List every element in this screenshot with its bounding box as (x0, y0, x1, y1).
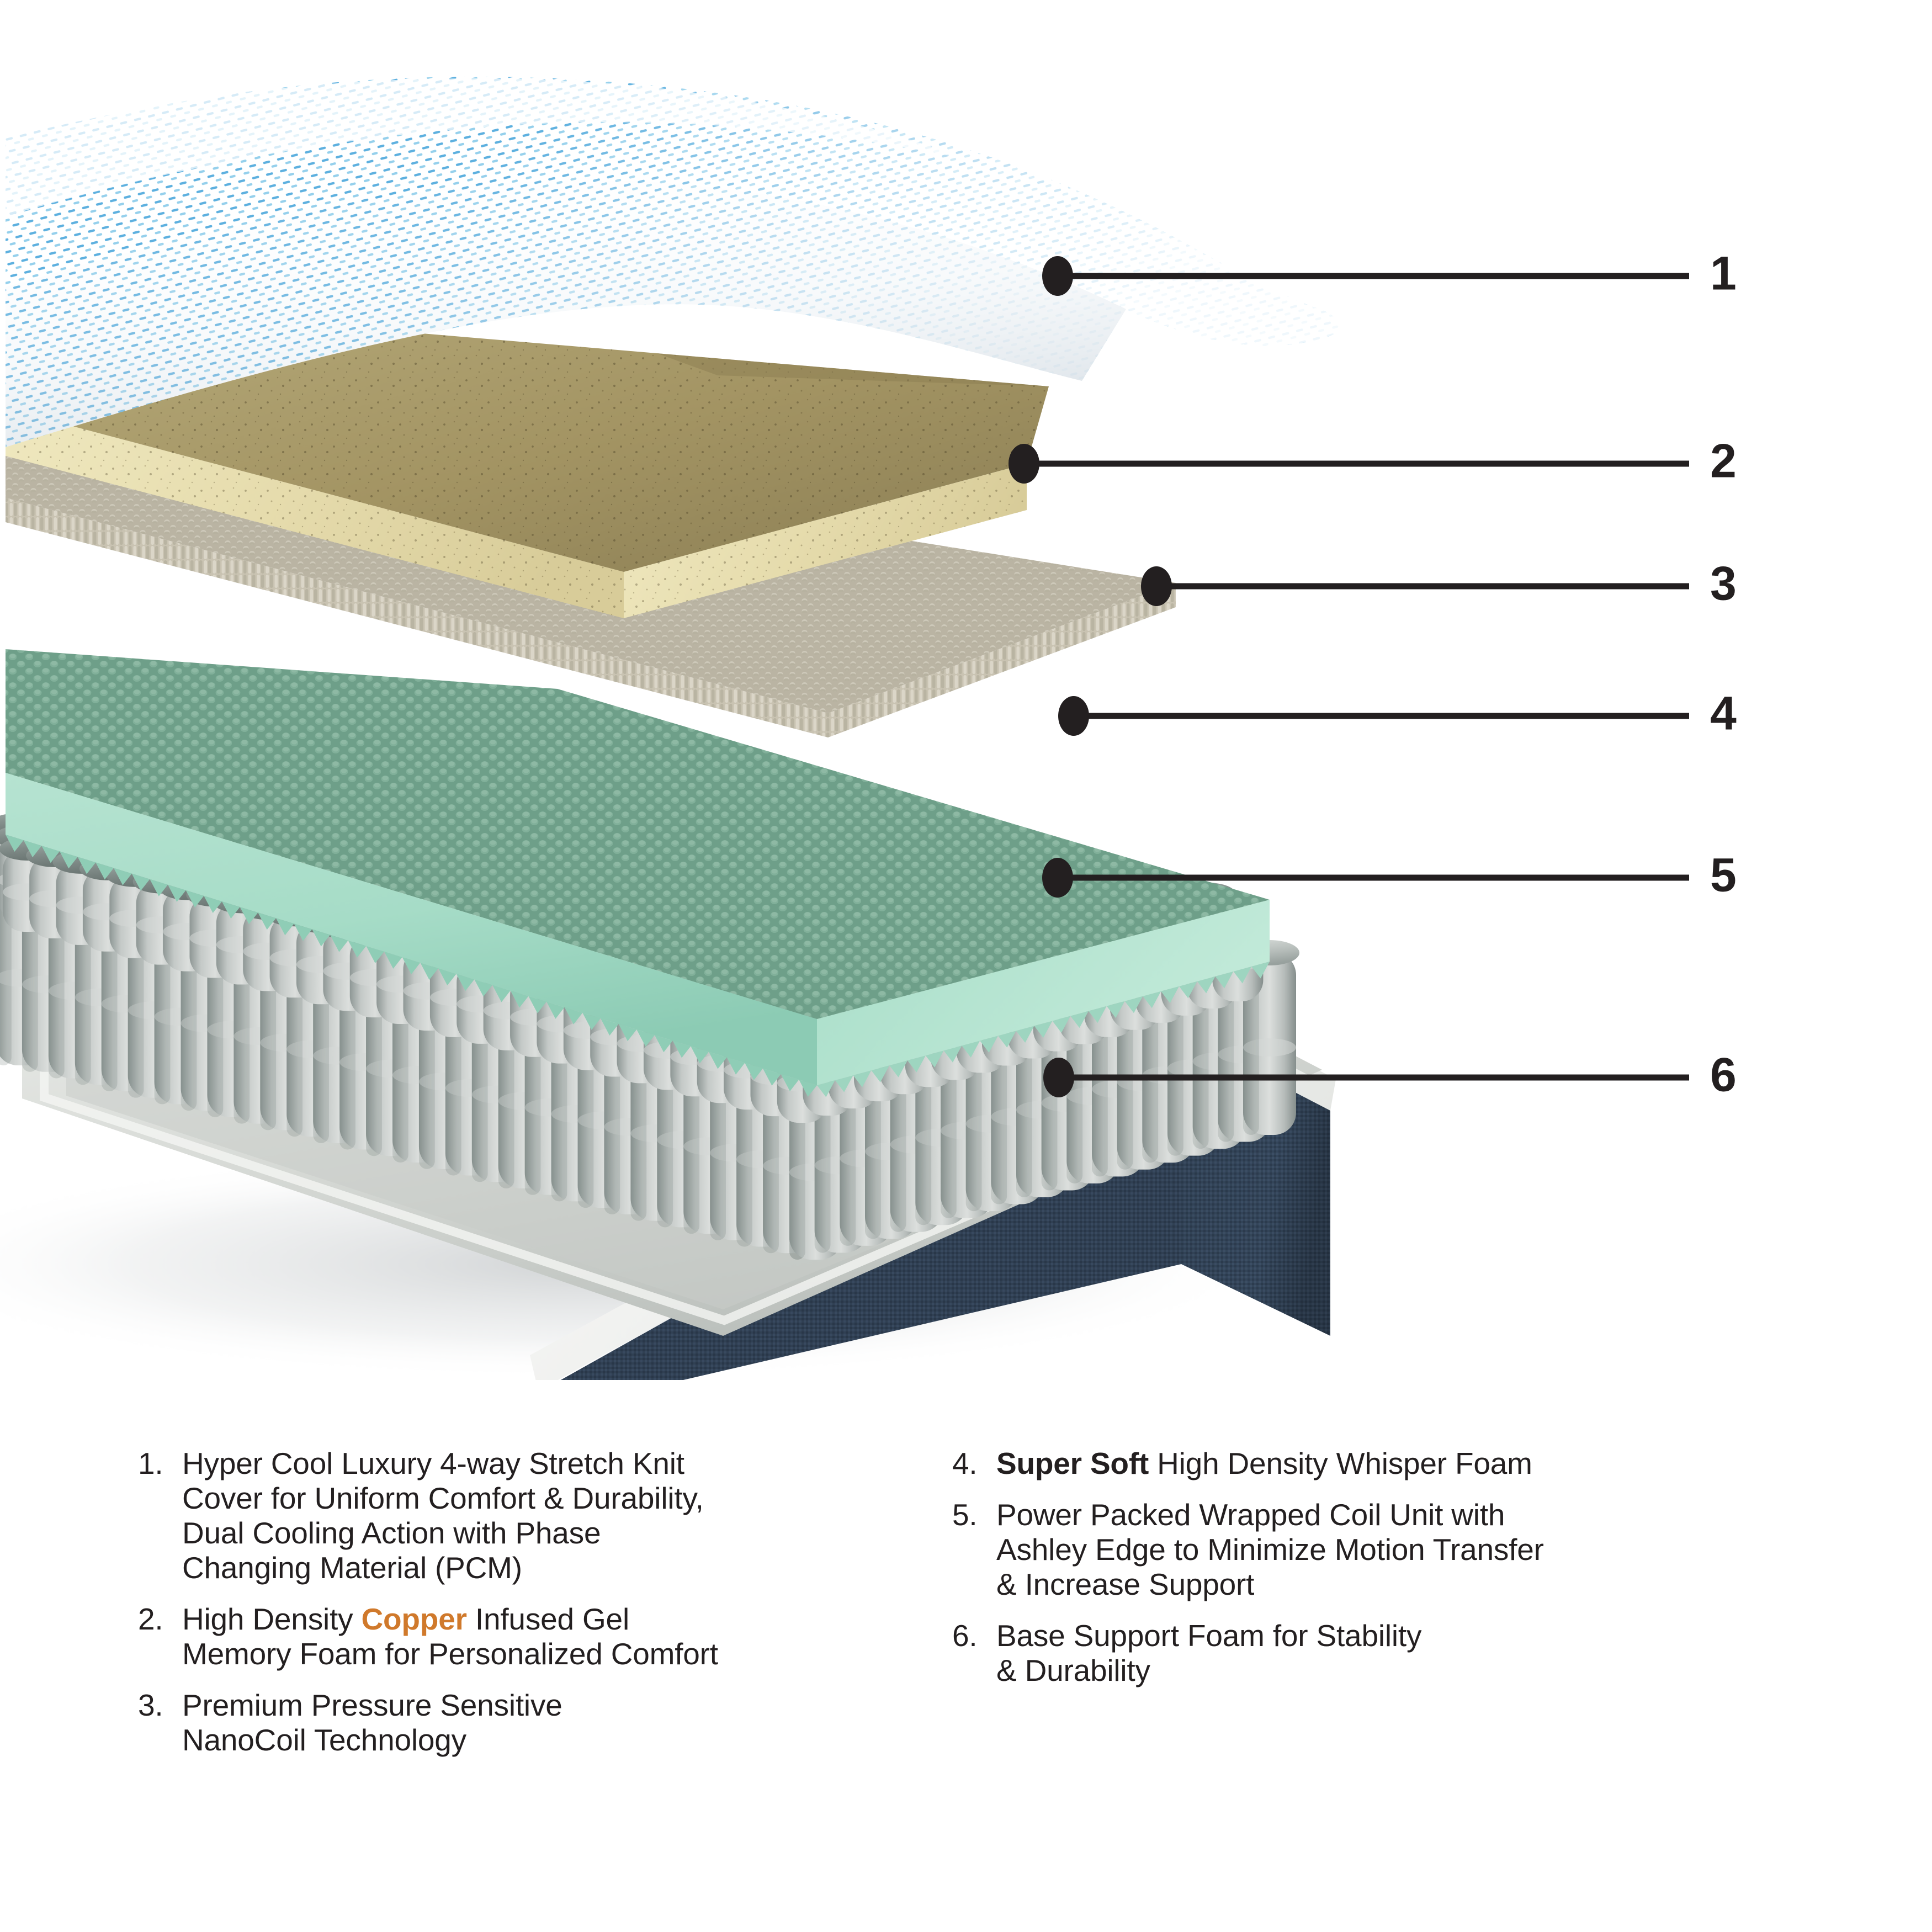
legend-item-number: 2. (138, 1602, 177, 1637)
callout-dot-2 (1009, 444, 1039, 484)
callout-dot-1 (1042, 256, 1073, 296)
legend-text: High Density Whisper Foam (1149, 1446, 1532, 1480)
legend-text: & Durability (996, 1653, 1150, 1687)
bold-highlight: Super Soft (996, 1446, 1149, 1480)
legend-text: Hyper Cool Luxury 4-way Stretch Knit (182, 1446, 684, 1480)
legend-item-line: Dual Cooling Action with Phase (182, 1516, 922, 1551)
callout-dot-4 (1058, 696, 1089, 736)
legend-item-line: Base Support Foam for Stability (996, 1618, 1813, 1653)
legend-item-line: Power Packed Wrapped Coil Unit with (996, 1498, 1813, 1532)
legend-item-number: 4. (952, 1446, 991, 1481)
legend-text: Base Support Foam for Stability (996, 1618, 1421, 1653)
legend-column-left: 1.Hyper Cool Luxury 4-way Stretch KnitCo… (138, 1446, 922, 1774)
legend-text: Cover for Uniform Comfort & Durability, (182, 1481, 704, 1515)
legend-item-number: 6. (952, 1618, 991, 1653)
callout-number-3: 3 (1710, 558, 1737, 611)
legend-item-line: Premium Pressure Sensitive (182, 1688, 922, 1723)
legend-item-line: & Durability (996, 1653, 1813, 1688)
legend-item-4: 4.Super Soft High Density Whisper Foam (952, 1446, 1813, 1481)
legend-item-line: Super Soft High Density Whisper Foam (996, 1446, 1813, 1481)
callout-number-1: 1 (1710, 247, 1737, 300)
legend-item-line: Ashley Edge to Minimize Motion Transfer (996, 1532, 1813, 1567)
callout-dot-3 (1141, 566, 1172, 606)
legend-item-line: Changing Material (PCM) (182, 1551, 922, 1585)
legend-item-line: Hyper Cool Luxury 4-way Stretch Knit (182, 1446, 922, 1481)
legend-text: Power Packed Wrapped Coil Unit with (996, 1498, 1505, 1532)
legend-column-right: 4.Super Soft High Density Whisper Foam5.… (952, 1446, 1813, 1705)
legend-item-number: 1. (138, 1446, 177, 1481)
legend-item-number: 5. (952, 1498, 991, 1532)
legend-item-1: 1.Hyper Cool Luxury 4-way Stretch KnitCo… (138, 1446, 922, 1585)
legend-item-line: High Density Copper Infused Gel (182, 1602, 922, 1637)
layer-legend: 1.Hyper Cool Luxury 4-way Stretch KnitCo… (0, 1446, 1932, 1932)
callout-number-4: 4 (1710, 687, 1737, 740)
legend-text: Premium Pressure Sensitive (182, 1688, 562, 1722)
legend-item-line: Memory Foam for Personalized Comfort (182, 1637, 922, 1671)
legend-item-6: 6.Base Support Foam for Stability& Durab… (952, 1618, 1813, 1688)
legend-item-5: 5.Power Packed Wrapped Coil Unit withAsh… (952, 1498, 1813, 1602)
callout-number-5: 5 (1710, 849, 1737, 902)
copper-highlight: Copper (361, 1602, 466, 1636)
legend-text: High Density (182, 1602, 361, 1636)
legend-item-line: & Increase Support (996, 1567, 1813, 1602)
legend-item-3: 3.Premium Pressure SensitiveNanoCoil Tec… (138, 1688, 922, 1758)
legend-item-number: 3. (138, 1688, 177, 1723)
callout-dot-6 (1043, 1058, 1074, 1097)
legend-text: Changing Material (PCM) (182, 1551, 522, 1585)
legend-item-line: NanoCoil Technology (182, 1723, 922, 1758)
legend-item-2: 2.High Density Copper Infused GelMemory … (138, 1602, 922, 1671)
legend-text: Infused Gel (467, 1602, 629, 1636)
legend-text: Memory Foam for Personalized Comfort (182, 1637, 718, 1671)
callout-number-6: 6 (1710, 1049, 1737, 1102)
legend-text: Dual Cooling Action with Phase (182, 1516, 601, 1550)
callout-number-2: 2 (1710, 435, 1737, 488)
legend-text: & Increase Support (996, 1567, 1254, 1601)
legend-text: Ashley Edge to Minimize Motion Transfer (996, 1532, 1544, 1567)
legend-text: NanoCoil Technology (182, 1723, 466, 1757)
mattress-cutaway-diagram: 123456 (0, 0, 1932, 1380)
callout-dot-5 (1042, 858, 1073, 898)
legend-item-line: Cover for Uniform Comfort & Durability, (182, 1481, 922, 1516)
